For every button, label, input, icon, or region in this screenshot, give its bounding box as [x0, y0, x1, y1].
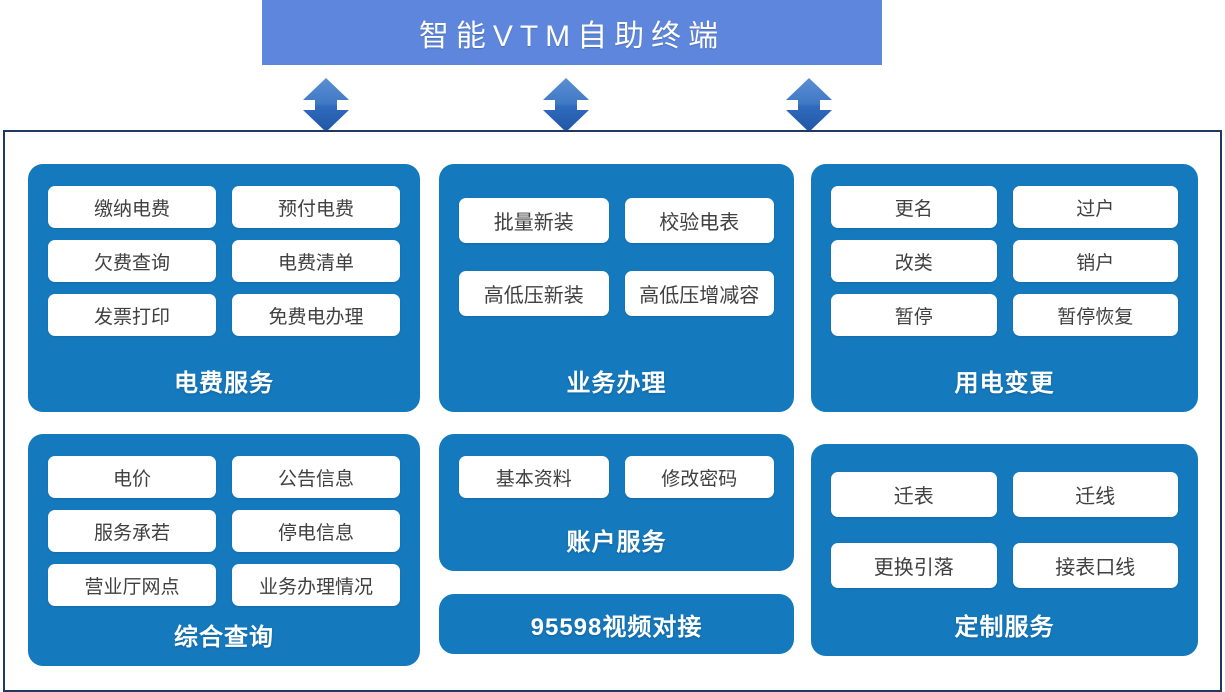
- service-item[interactable]: 迁线: [1013, 472, 1179, 517]
- service-item[interactable]: 更名: [831, 186, 997, 228]
- page-title-banner: 智能VTM自助终端: [262, 0, 882, 65]
- pill-grid: 迁表 迁线 更换引落 接表口线: [811, 444, 1198, 588]
- service-card-95598-video[interactable]: 95598视频对接: [439, 594, 794, 654]
- service-item[interactable]: 欠费查询: [48, 240, 216, 282]
- service-item[interactable]: 暂停恢复: [1013, 294, 1179, 336]
- service-item[interactable]: 免费电办理: [232, 294, 400, 336]
- service-card-title: 定制服务: [955, 607, 1055, 642]
- service-card-title: 业务办理: [567, 363, 667, 398]
- service-item[interactable]: 校验电表: [625, 198, 775, 243]
- service-card-title: 电费服务: [174, 363, 274, 398]
- service-item[interactable]: 预付电费: [232, 186, 400, 228]
- service-card-dianfeifuwu[interactable]: 缴纳电费 预付电费 欠费查询 电费清单 发票打印 免费电办理 电费服务: [28, 164, 420, 412]
- service-item[interactable]: 高低压新装: [459, 271, 609, 316]
- service-item[interactable]: 迁表: [831, 472, 997, 517]
- pill-grid: 缴纳电费 预付电费 欠费查询 电费清单 发票打印 免费电办理: [28, 164, 420, 336]
- service-item[interactable]: 更换引落: [831, 543, 997, 588]
- service-card-zhanghufuwu[interactable]: 基本资料 修改密码 账户服务: [439, 434, 794, 571]
- service-item[interactable]: 过户: [1013, 186, 1179, 228]
- double-arrow-vertical-icon: [786, 78, 832, 132]
- service-item[interactable]: 停电信息: [232, 510, 400, 552]
- service-item[interactable]: 发票打印: [48, 294, 216, 336]
- service-item[interactable]: 缴纳电费: [48, 186, 216, 228]
- service-item[interactable]: 批量新装: [459, 198, 609, 243]
- page-title: 智能VTM自助终端: [419, 11, 725, 55]
- service-item[interactable]: 公告信息: [232, 456, 400, 498]
- service-item[interactable]: 业务办理情况: [232, 564, 400, 606]
- service-item[interactable]: 高低压增减容: [625, 271, 775, 316]
- service-item[interactable]: 营业厅网点: [48, 564, 216, 606]
- pill-grid: 基本资料 修改密码: [439, 434, 794, 498]
- service-card-title: 综合查询: [174, 617, 274, 652]
- service-card-dingzhifuwu[interactable]: 迁表 迁线 更换引落 接表口线 定制服务: [811, 444, 1198, 656]
- service-item[interactable]: 电价: [48, 456, 216, 498]
- service-card-zonghechaxun[interactable]: 电价 公告信息 服务承若 停电信息 营业厅网点 业务办理情况 综合查询: [28, 434, 420, 666]
- pill-grid: 电价 公告信息 服务承若 停电信息 营业厅网点 业务办理情况: [28, 434, 420, 606]
- pill-grid: 更名 过户 改类 销户 暂停 暂停恢复: [811, 164, 1198, 336]
- service-item[interactable]: 服务承若: [48, 510, 216, 552]
- service-card-yewubanli[interactable]: 批量新装 校验电表 高低压新装 高低压增减容 业务办理: [439, 164, 794, 412]
- pill-grid: 批量新装 校验电表 高低压新装 高低压增减容: [439, 164, 794, 316]
- service-item[interactable]: 暂停: [831, 294, 997, 336]
- double-arrow-vertical-icon: [543, 78, 589, 132]
- double-arrow-vertical-icon: [303, 78, 349, 132]
- service-card-title: 账户服务: [567, 522, 667, 557]
- service-card-grid: 缴纳电费 预付电费 欠费查询 电费清单 发票打印 免费电办理 电费服务 批量新装…: [28, 164, 1198, 674]
- service-card-title: 用电变更: [955, 363, 1055, 398]
- service-item[interactable]: 电费清单: [232, 240, 400, 282]
- service-item[interactable]: 基本资料: [459, 456, 609, 498]
- service-card-title: 95598视频对接: [531, 607, 703, 642]
- service-item[interactable]: 修改密码: [625, 456, 775, 498]
- service-item[interactable]: 改类: [831, 240, 997, 282]
- service-item[interactable]: 接表口线: [1013, 543, 1179, 588]
- service-card-yongdianbiangeng[interactable]: 更名 过户 改类 销户 暂停 暂停恢复 用电变更: [811, 164, 1198, 412]
- service-item[interactable]: 销户: [1013, 240, 1179, 282]
